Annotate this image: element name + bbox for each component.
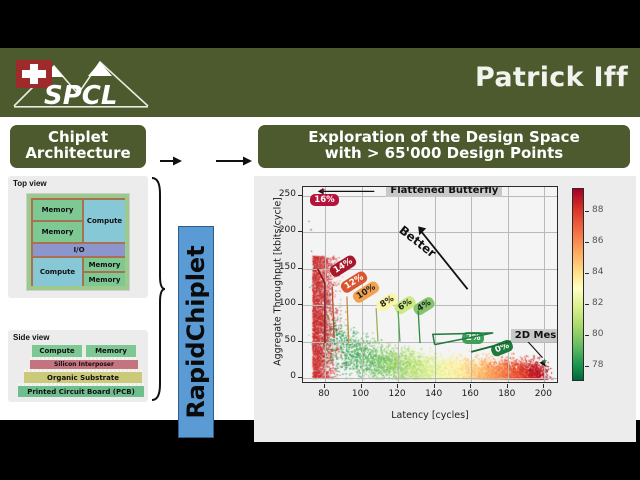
presenter-name: Patrick Iff <box>475 62 628 93</box>
x-tick-mark <box>324 384 325 388</box>
y-tick-label: 0 <box>266 371 296 381</box>
side-view-layer-silicon-interposer: Silicon Interposer <box>30 360 138 369</box>
section-title-chiplet-architecture: Chiplet Architecture <box>10 125 146 168</box>
rapidchiplet-label: RapidChiplet <box>182 245 210 418</box>
chart-x-axis-label: Latency [cycles] <box>302 410 558 421</box>
slide-header: SPCL Patrick Iff <box>0 48 640 117</box>
top-view-block-memory-3: Memory <box>84 258 125 271</box>
y-tick-mark <box>298 268 302 269</box>
colorbar-tick-mark <box>585 211 589 212</box>
x-tick-mark <box>543 384 544 388</box>
y-tick-mark <box>298 304 302 305</box>
design-space-title-line1: Exploration of the Design Space <box>258 129 630 145</box>
x-tick-label: 100 <box>344 389 378 399</box>
top-view-block-memory-2: Memory <box>33 222 82 242</box>
chart-plot-area: 16%14%12%10%8%6%4%2%0%★★Flattened Butter… <box>302 186 558 383</box>
side-view-panel: Side view Compute Memory Silicon Interpo… <box>8 330 148 402</box>
svg-text:★: ★ <box>541 358 547 366</box>
colorbar-tick-mark <box>585 273 589 274</box>
side-view-layer-compute: Compute <box>32 345 82 357</box>
spcl-logo: SPCL <box>8 54 156 112</box>
colorbar-tick-mark <box>585 366 589 367</box>
slide-canvas: SPCL Patrick Iff Chiplet Architecture Ex… <box>0 0 640 480</box>
rapidchiplet-box: RapidChiplet <box>178 226 214 438</box>
y-tick-label: 250 <box>266 189 296 199</box>
y-tick-label: 50 <box>266 335 296 345</box>
top-view-block-memory-4: Memory <box>84 273 125 286</box>
colorbar-tick-mark <box>585 242 589 243</box>
design-space-title-line2: with > 65'000 Design Points <box>258 145 630 161</box>
top-view-label: Top view <box>13 179 47 188</box>
colorbar-tick-label: 80 <box>592 329 603 339</box>
top-view-block-memory-1: Memory <box>33 200 82 220</box>
x-tick-mark <box>470 384 471 388</box>
side-view-layer-memory: Memory <box>86 345 136 357</box>
top-view-package: Memory Memory Compute I/O Compute Memory… <box>26 193 130 291</box>
y-tick-mark <box>298 377 302 378</box>
pareto-frontier-lines: ★★ <box>303 187 558 383</box>
top-view-interposer: Memory Memory Compute I/O Compute Memory… <box>31 198 125 286</box>
section-title-design-space: Exploration of the Design Space with > 6… <box>258 125 630 168</box>
top-view-block-io: I/O <box>33 244 125 256</box>
y-tick-label: 100 <box>266 298 296 308</box>
grouping-brace <box>150 176 166 402</box>
colorbar-tick-label: 86 <box>592 236 603 246</box>
x-tick-label: 180 <box>490 389 524 399</box>
x-tick-mark <box>507 384 508 388</box>
x-tick-label: 80 <box>307 389 341 399</box>
top-view-block-compute-2: Compute <box>33 258 82 286</box>
x-tick-label: 200 <box>526 389 560 399</box>
colorbar-tick-label: 78 <box>592 360 603 370</box>
top-view-panel: Top view Memory Memory Compute I/O Compu… <box>8 176 148 298</box>
colorbar-tick-label: 88 <box>592 205 603 215</box>
colorbar-tick-mark <box>585 304 589 305</box>
y-tick-mark <box>298 231 302 232</box>
y-tick-label: 150 <box>266 262 296 272</box>
chiplet-architecture-title-line1: Chiplet <box>10 129 146 145</box>
top-view-block-compute-1: Compute <box>84 200 125 242</box>
side-view-layer-organic-substrate: Organic Substrate <box>24 372 142 383</box>
chiplet-architecture-title-line2: Architecture <box>10 145 146 161</box>
x-tick-label: 140 <box>417 389 451 399</box>
svg-text:★: ★ <box>319 187 325 195</box>
side-view-layer-pcb: Printed Circuit Board (PCB) <box>18 386 144 397</box>
side-view-label: Side view <box>13 333 49 342</box>
x-tick-label: 120 <box>380 389 414 399</box>
colorbar-tick-mark <box>585 335 589 336</box>
y-tick-mark <box>298 341 302 342</box>
slide-body: SPCL Patrick Iff Chiplet Architecture Ex… <box>0 48 640 420</box>
spcl-logo-text: SPCL <box>44 81 117 111</box>
arrow-brace-to-tool <box>160 153 182 169</box>
colorbar-tick-label: 84 <box>592 267 603 277</box>
chart-callout-2d-mesh: 2D Mesh <box>511 329 558 342</box>
design-space-scatter-chart: Aggregate Throughput [kbits/cycle] 16%14… <box>254 176 636 442</box>
x-tick-label: 160 <box>453 389 487 399</box>
chart-callout-flattened-butterfly: Flattened Butterfly <box>386 186 502 197</box>
x-tick-mark <box>434 384 435 388</box>
y-tick-label: 200 <box>266 225 296 235</box>
chart-y-axis-label: Aggregate Throughput [kbits/cycle] <box>273 182 284 382</box>
colorbar-tick-label: 82 <box>592 298 603 308</box>
colorbar <box>572 188 584 381</box>
x-tick-mark <box>361 384 362 388</box>
x-tick-mark <box>397 384 398 388</box>
y-tick-mark <box>298 195 302 196</box>
arrow-tool-to-chart <box>216 153 252 169</box>
